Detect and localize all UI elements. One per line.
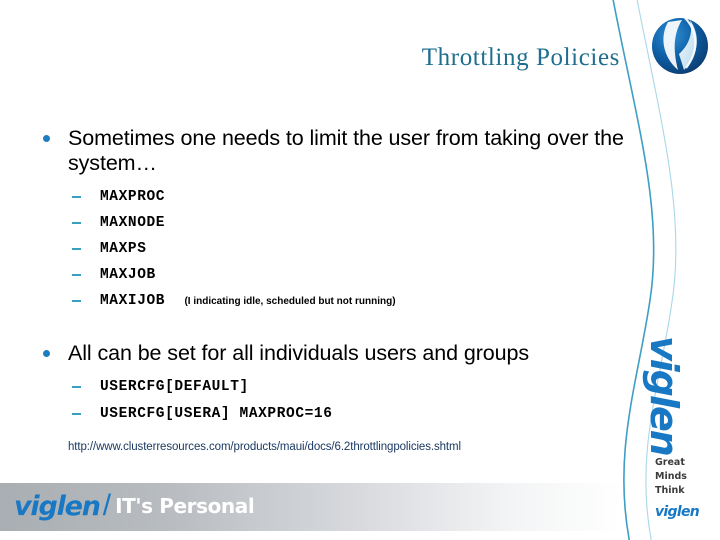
side-wordmark: viglen	[642, 336, 686, 455]
source-url-link[interactable]: http://www.clusterresources.com/products…	[68, 441, 461, 453]
viglen-brand-mark-icon	[648, 14, 712, 78]
dash-icon	[72, 386, 81, 388]
footer-viglen-logo: viglen / IT's Personal	[14, 489, 254, 523]
side-small-wordmark: viglen	[655, 504, 699, 520]
sub-bullet-text: MAXJOB	[100, 267, 156, 283]
bullet-level1: All can be set for all individuals users…	[34, 341, 624, 366]
list-item: MAXIJOB (I indicating idle, scheduled bu…	[34, 288, 624, 315]
side-tagline: Great Minds Think	[655, 456, 687, 498]
side-tagline-line: Minds	[655, 470, 687, 484]
list-item: MAXPROC	[34, 184, 624, 210]
bullet-level1: Sometimes one needs to limit the user fr…	[34, 126, 624, 176]
list-item: USERCFG[DEFAULT]	[34, 374, 624, 401]
side-viglen-logo: viglen	[648, 336, 688, 454]
sub-bullet-text: USERCFG[DEFAULT]	[100, 379, 249, 395]
sub-bullet-text: MAXPS	[100, 241, 147, 257]
list-item: USERCFG[USERA] MAXPROC=16	[34, 401, 624, 428]
dash-icon	[72, 413, 81, 415]
bullet-dot-icon	[43, 350, 50, 357]
dash-icon	[72, 222, 81, 224]
slide-content: Sometimes one needs to limit the user fr…	[34, 126, 624, 430]
sub-bullet-text: USERCFG[USERA] MAXPROC=16	[100, 406, 333, 422]
bullet-level1-text: Sometimes one needs to limit the user fr…	[68, 126, 624, 175]
sub-bullet-annotation: (I indicating idle, scheduled but not ru…	[184, 296, 395, 307]
list-item: MAXNODE	[34, 210, 624, 236]
sub-bullet-text: MAXNODE	[100, 215, 165, 231]
footer-wordmark: viglen	[14, 491, 100, 522]
list-item: MAXJOB	[34, 262, 624, 288]
page-title: Throttling Policies	[0, 44, 620, 72]
side-tagline-line: Think	[655, 484, 687, 498]
sub-bullet-list: MAXPROC MAXNODE MAXPS MAXJOB MAXIJOB (I …	[34, 184, 624, 315]
footer-separator-icon: /	[103, 489, 111, 523]
side-tagline-line: Great	[655, 456, 687, 470]
bullet-level1-text: All can be set for all individuals users…	[68, 341, 529, 365]
bullet-block: Sometimes one needs to limit the user fr…	[34, 126, 624, 315]
sub-bullet-list: USERCFG[DEFAULT] USERCFG[USERA] MAXPROC=…	[34, 374, 624, 428]
dash-icon	[72, 274, 81, 276]
dash-icon	[72, 248, 81, 250]
bullet-block: All can be set for all individuals users…	[34, 341, 624, 428]
list-item: MAXPS	[34, 236, 624, 262]
dash-icon	[72, 300, 81, 302]
bullet-dot-icon	[43, 135, 50, 142]
sub-bullet-text: MAXPROC	[100, 189, 165, 205]
dash-icon	[72, 196, 81, 198]
sub-bullet-text: MAXIJOB	[100, 293, 165, 309]
footer-tagline: IT's Personal	[115, 494, 254, 518]
